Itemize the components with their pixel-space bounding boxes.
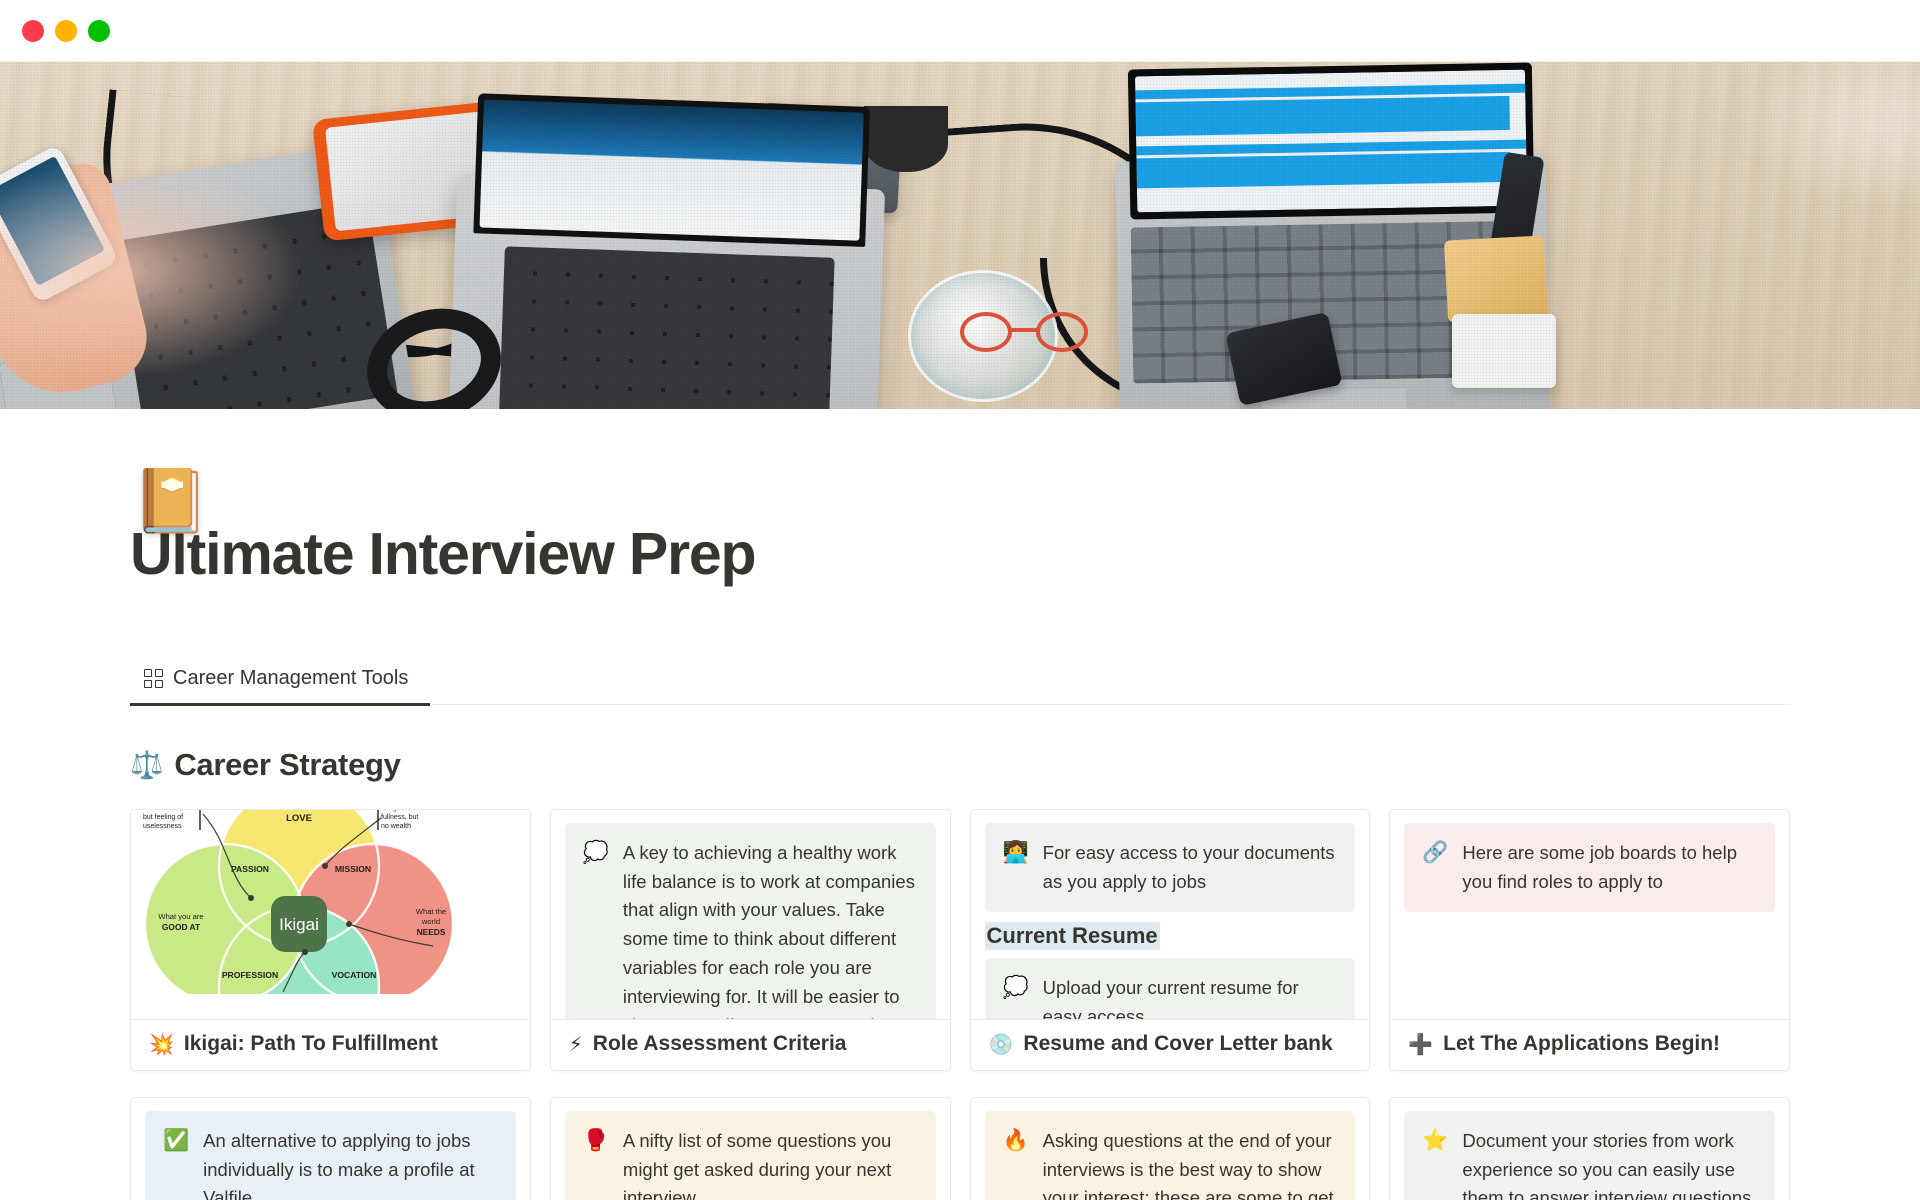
svg-text:PASSION: PASSION [231,864,269,874]
svg-text:Delight and: Delight and [381,810,417,812]
callout-text: For easy access to your documents as you… [1043,839,1338,897]
svg-text:no wealth: no wealth [381,823,411,830]
section-heading-label: Career Strategy [174,747,400,783]
plus-icon: ➕ [1408,1032,1433,1057]
card-preview: ⭐ Document your stories from work experi… [1390,1098,1789,1200]
card-interview-questions[interactable]: 🥊 A nifty list of some questions you mig… [550,1097,951,1200]
card-title-label: Role Assessment Criteria [593,1032,847,1056]
card-title-label: Resume and Cover Letter bank [1023,1032,1332,1056]
card-preview: Ikigai LOVE PASSION MISSION PROFESSION V… [131,810,530,1019]
external-drive-orange-icon [312,101,512,242]
optical-disk-icon: 💿 [989,1032,1014,1057]
woman-technologist-icon: 👩‍💻 [1003,839,1029,897]
card-valfile[interactable]: ✅ An alternative to applying to jobs ind… [130,1097,531,1200]
svg-text:PROFESSION: PROFESSION [222,970,278,980]
boxing-glove-icon: 🥊 [583,1127,609,1200]
svg-text:What you are: What you are [158,912,203,921]
collision-icon: 💥 [149,1032,174,1057]
svg-text:fullness, but: fullness, but [381,814,418,821]
eyeglasses-icon [960,312,1088,354]
external-drive-grey-icon [757,102,902,213]
svg-text:What the: What the [416,907,446,916]
close-window-button[interactable] [22,20,44,42]
card-ikigai[interactable]: Ikigai LOVE PASSION MISSION PROFESSION V… [130,809,531,1071]
card-role-assessment-criteria[interactable]: 💭 A key to achieving a healthy work life… [550,809,951,1071]
callout-text: A key to achieving a healthy work life b… [623,839,918,1019]
callout-text: A nifty list of some questions you might… [623,1127,918,1200]
sub-heading-current-resume: Current Resume [985,922,1160,950]
svg-text:NEEDS: NEEDS [417,927,446,937]
lightning-bolt-icon: ⚡ [569,1032,583,1057]
thought-balloon-icon: 💭 [583,839,609,1019]
card-grid-row-2: ✅ An alternative to applying to jobs ind… [130,1097,1790,1200]
callout-block: 👩‍💻 For easy access to your documents as… [985,823,1356,913]
card-grid-row-1: Ikigai LOVE PASSION MISSION PROFESSION V… [130,809,1790,1071]
cable-icon [291,220,528,376]
page-title: Ultimate Interview Prep [130,523,1790,587]
svg-text:world: world [421,917,440,926]
usb-hub-icon [1452,314,1556,388]
minimize-window-button[interactable] [55,20,77,42]
star-icon: ⭐ [1422,1127,1448,1200]
page-body: 📔 Ultimate Interview Prep Career Managem… [0,523,1920,1200]
card-questions-to-ask[interactable]: 🔥 Asking questions at the end of your in… [970,1097,1371,1200]
callout-block: 🥊 A nifty list of some questions you mig… [565,1111,936,1200]
card-title: 💿 Resume and Cover Letter bank [971,1019,1370,1070]
laptop-right-icon [1115,154,1550,409]
hand-icon [0,157,156,407]
cable-icon [1040,258,1460,408]
card-preview: 🔗 Here are some job boards to help you f… [1390,810,1789,1019]
window-titlebar [0,0,1920,62]
fire-icon: 🔥 [1003,1127,1029,1200]
card-title-label: Ikigai: Path To Fulfillment [184,1032,438,1056]
maximize-window-button[interactable] [88,20,110,42]
svg-text:LOVE: LOVE [286,813,312,824]
card-title: ⚡ Role Assessment Criteria [551,1019,950,1070]
callout-text: Asking questions at the end of your inte… [1043,1127,1338,1200]
callout-block: 🔥 Asking questions at the end of your in… [985,1111,1356,1200]
callout-text: Upload your current resume for easy acce… [1043,974,1338,1018]
card-title: 💥 Ikigai: Path To Fulfillment [131,1019,530,1070]
svg-text:but feeling of: but feeling of [143,814,183,821]
thought-balloon-icon: 💭 [1003,974,1029,1018]
card-resume-and-cover-letter-bank[interactable]: 👩‍💻 For easy access to your documents as… [970,809,1371,1071]
svg-text:GOOD AT: GOOD AT [162,922,201,932]
card-preview: 👩‍💻 For easy access to your documents as… [971,810,1370,1019]
link-icon: 🔗 [1422,839,1448,897]
page-content: Ultimate Interview Prep Career Managemen… [0,523,1920,1200]
cable-icon [86,89,667,376]
scales-icon: ⚖️ [130,749,163,781]
grid-icon [144,669,163,688]
headphones-icon [352,292,515,409]
cup-icon [864,106,948,172]
usb-stick-icon [1483,152,1544,295]
cover-photo-desk-with-laptops [0,62,1920,409]
card-preview: ✅ An alternative to applying to jobs ind… [131,1098,530,1200]
callout-block: 💭 A key to achieving a healthy work life… [565,823,936,1019]
page-icon-notebook-icon[interactable]: 📔 [132,471,209,533]
ikigai-venn-diagram-icon: Ikigai LOVE PASSION MISSION PROFESSION V… [131,810,530,1019]
tab-bar: Career Management Tools [130,661,1790,705]
tab-label: Career Management Tools [173,667,408,690]
callout-block: 💭 Upload your current resume for easy ac… [985,958,1356,1018]
water-glass-icon [908,270,1058,402]
svg-text:Satisfaction,: Satisfaction, [143,810,181,812]
card-title: ➕ Let The Applications Begin! [1390,1019,1789,1070]
callout-text: An alternative to applying to jobs indiv… [203,1127,498,1200]
svg-text:uselessness: uselessness [143,823,182,830]
card-preview: 🥊 A nifty list of some questions you mig… [551,1098,950,1200]
power-adapter-icon [1444,235,1548,322]
section-heading-career-strategy: ⚖️ Career Strategy [130,747,1790,783]
smartphone-dark-icon [1225,312,1342,406]
callout-text: Document your stories from work experien… [1462,1127,1757,1200]
callout-block: 🔗 Here are some job boards to help you f… [1404,823,1775,913]
svg-text:MISSION: MISSION [335,864,371,874]
callout-block: ✅ An alternative to applying to jobs ind… [145,1111,516,1200]
card-preview: 💭 A key to achieving a healthy work life… [551,810,950,1019]
laptop-left-icon [0,141,421,409]
smartphone-icon [0,144,120,304]
card-let-the-applications-begin[interactable]: 🔗 Here are some job boards to help you f… [1389,809,1790,1071]
cable-icon [872,111,1217,363]
photo-grain-overlay [0,62,1920,409]
laptop-center-icon [447,175,885,409]
svg-text:VOCATION: VOCATION [332,970,377,980]
page-cover-banner [0,62,1920,409]
card-preview: 🔥 Asking questions at the end of your in… [971,1098,1370,1200]
card-title-label: Let The Applications Begin! [1443,1032,1720,1056]
callout-block: ⭐ Document your stories from work experi… [1404,1111,1775,1200]
card-story-bank[interactable]: ⭐ Document your stories from work experi… [1389,1097,1790,1200]
callout-text: Here are some job boards to help you fin… [1462,839,1757,897]
check-mark-button-icon: ✅ [163,1127,189,1200]
tab-career-management-tools[interactable]: Career Management Tools [130,661,430,706]
svg-text:Ikigai: Ikigai [279,915,319,934]
